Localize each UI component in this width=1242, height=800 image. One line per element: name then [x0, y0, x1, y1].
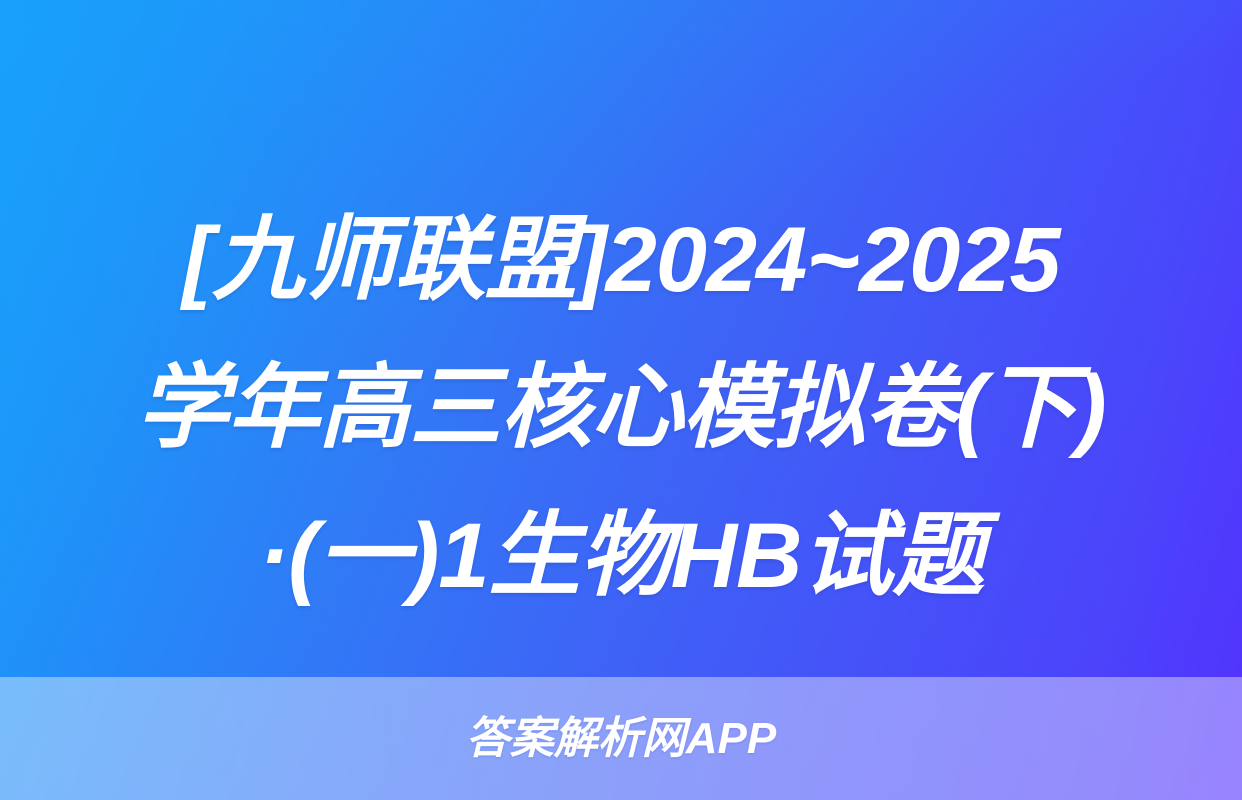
- footer-watermark-band: 答案解析网APP: [0, 677, 1242, 800]
- app-watermark-label: 答案解析网APP: [466, 715, 776, 763]
- title-line-1: [九师联盟]2024~2025: [0, 186, 1242, 334]
- title-line-2: 学年高三核心模拟卷(下): [0, 334, 1242, 482]
- exam-cover-banner: [九师联盟]2024~2025 学年高三核心模拟卷(下) ·(一)1生物HB试题…: [0, 0, 1242, 800]
- title-line-3: ·(一)1生物HB试题: [0, 482, 1242, 630]
- page-title: [九师联盟]2024~2025 学年高三核心模拟卷(下) ·(一)1生物HB试题: [0, 186, 1242, 630]
